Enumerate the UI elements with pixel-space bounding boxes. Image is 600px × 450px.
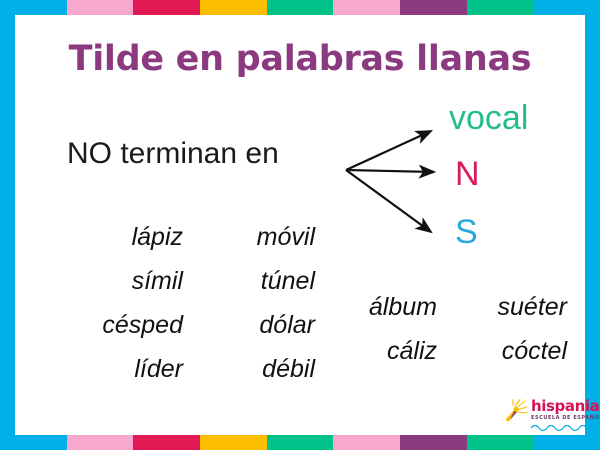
stripe-segment (200, 435, 267, 450)
example-word: túnel (205, 259, 315, 303)
example-word: cáliz (325, 329, 437, 373)
word-column: álbum cáliz (325, 285, 437, 373)
bottom-stripe-border (0, 435, 600, 450)
shooting-star-icon (502, 399, 528, 425)
example-word: dólar (205, 303, 315, 347)
example-word: álbum (325, 285, 437, 329)
arrow-to-vocal (346, 131, 431, 170)
infographic-canvas: Tilde en palabras llanas NO terminan en … (0, 0, 600, 450)
branching-arrows (335, 115, 465, 250)
ending-label-s: S (455, 213, 478, 252)
stripe-segment (333, 435, 400, 450)
stripe-segment (400, 0, 467, 15)
stripe-segment (133, 435, 200, 450)
logo-tagline: ESCUELA DE ESPAÑOL (531, 415, 600, 422)
page-title: Tilde en palabras llanas (15, 39, 585, 79)
example-word: lápiz (63, 215, 183, 259)
rule-statement: NO terminan en (67, 137, 279, 171)
brand-logo: hispania ESCUELA DE ESPAÑOL (502, 398, 594, 436)
ending-label-n: N (455, 155, 480, 194)
stripe-segment (0, 0, 67, 15)
example-word: cóctel (455, 329, 567, 373)
word-column: suéter cóctel (455, 285, 567, 373)
example-word: débil (205, 347, 315, 391)
arrow-to-n (346, 170, 434, 172)
top-stripe-border (0, 0, 600, 15)
content-card: Tilde en palabras llanas NO terminan en … (15, 15, 585, 435)
stripe-segment (67, 0, 134, 15)
stripe-segment (267, 0, 334, 15)
ending-label-vocal: vocal (449, 99, 528, 138)
example-word: símil (63, 259, 183, 303)
stripe-segment (0, 435, 67, 450)
word-column: lápiz símil césped líder (63, 215, 183, 391)
logo-squiggle-icon (530, 423, 588, 432)
stripe-segment (400, 435, 467, 450)
stripe-segment (133, 0, 200, 15)
stripe-segment (467, 435, 534, 450)
example-word: líder (63, 347, 183, 391)
stripe-segment (467, 0, 534, 15)
word-column: móvil túnel dólar débil (205, 215, 315, 391)
example-word: móvil (205, 215, 315, 259)
logo-wordmark: hispania (531, 398, 599, 414)
stripe-segment (333, 0, 400, 15)
stripe-segment (200, 0, 267, 15)
stripe-segment (533, 435, 600, 450)
stripe-segment (533, 0, 600, 15)
stripe-segment (67, 435, 134, 450)
stripe-segment (267, 435, 334, 450)
example-word: césped (63, 303, 183, 347)
arrow-to-s (346, 170, 431, 232)
example-word: suéter (455, 285, 567, 329)
